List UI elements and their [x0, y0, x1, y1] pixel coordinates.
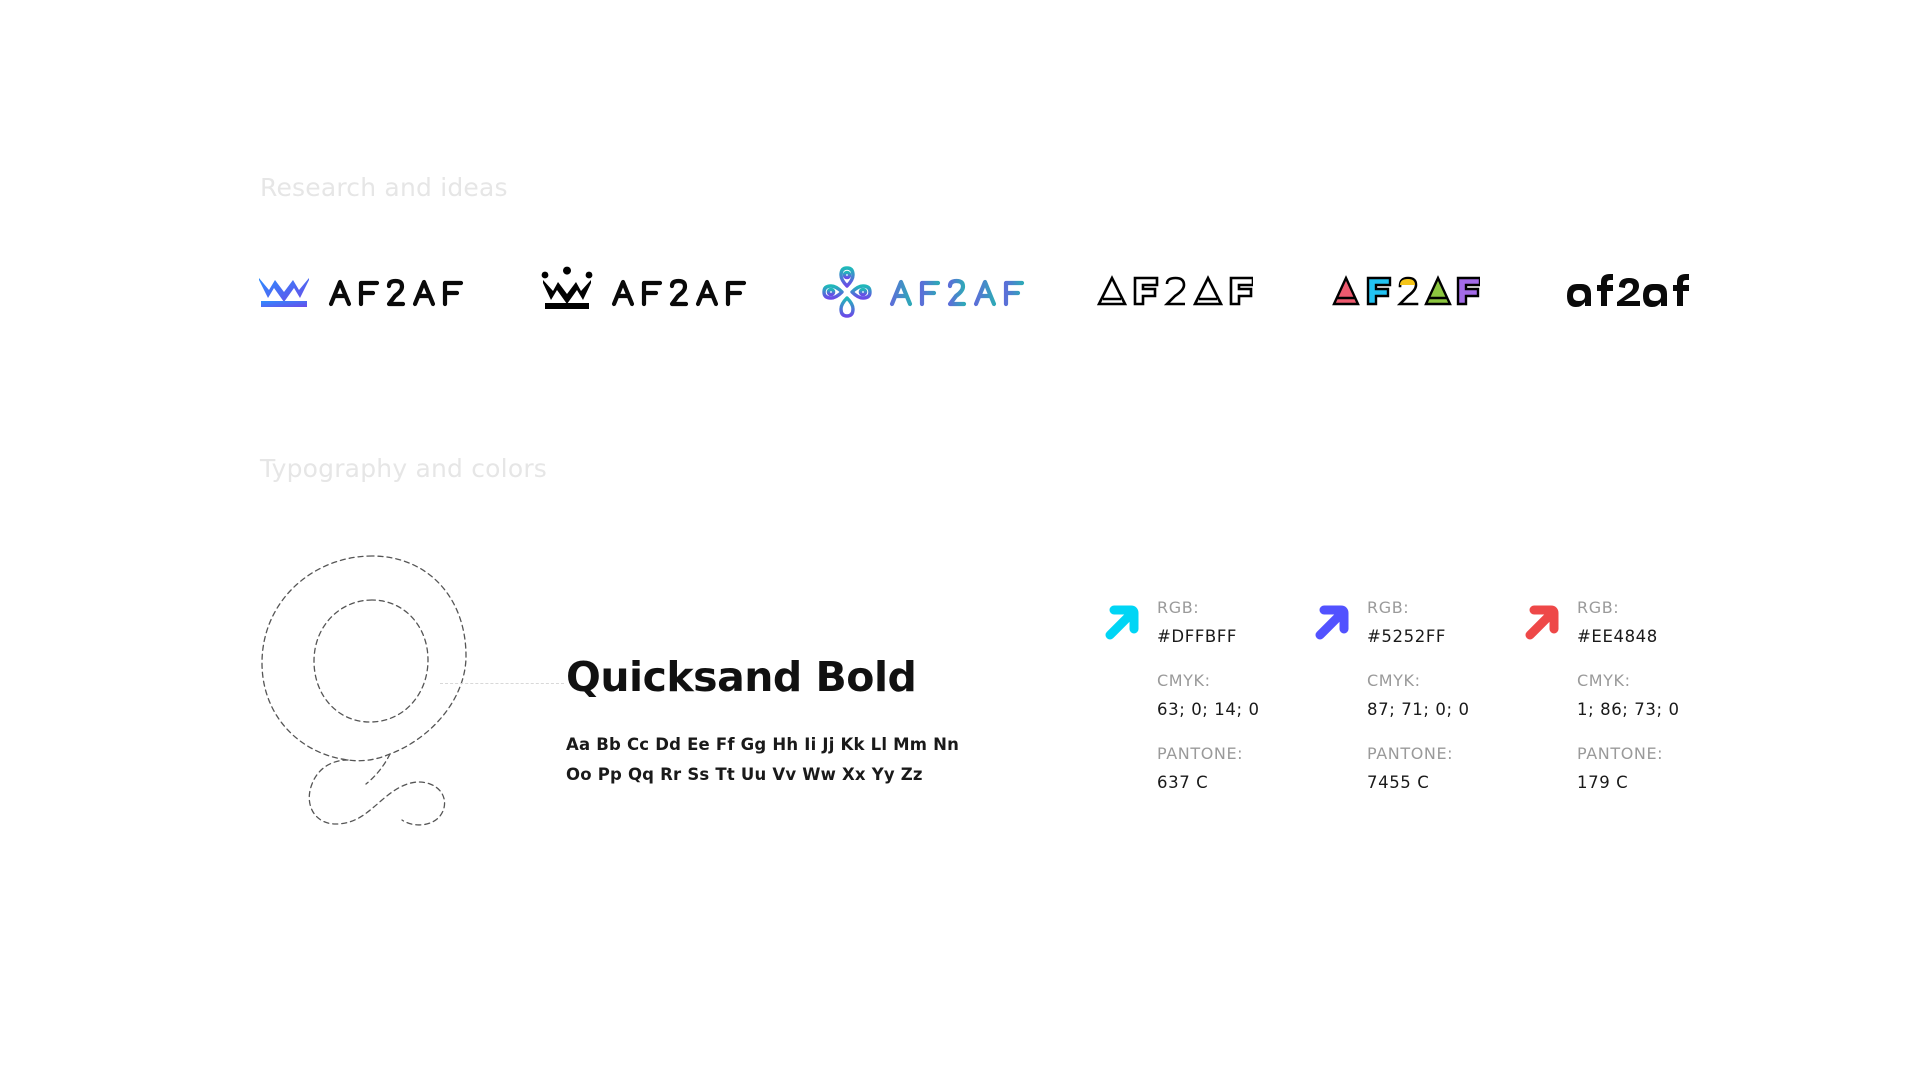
- field-label: RGB:: [1577, 598, 1727, 617]
- field-value: 87; 71; 0; 0: [1367, 700, 1517, 719]
- logo-variation-crown-dots[interactable]: [538, 252, 758, 332]
- field-label: PANTONE:: [1157, 744, 1307, 763]
- field-value: #5252FF: [1367, 627, 1517, 646]
- arrow-up-right-icon: [1520, 601, 1560, 641]
- swatch-field-cmyk: CMYK: 1; 86; 73; 0: [1577, 671, 1727, 719]
- logo-wordmark: [1330, 270, 1480, 314]
- logo-wordmark: [327, 274, 475, 310]
- section-heading-research: Research and ideas: [260, 173, 508, 202]
- swatch-fields: RGB: #5252FF CMYK: 87; 71; 0; 0 PANTONE:…: [1367, 598, 1517, 792]
- color-swatch-group: RGB: #DFFBFF CMYK: 63; 0; 14; 0 PANTONE:…: [1100, 598, 1740, 838]
- logo-wordmark: [1095, 270, 1253, 314]
- swatch-field-pantone: PANTONE: 637 C: [1157, 744, 1307, 792]
- arrow-up-right-icon: [1310, 601, 1350, 641]
- swatch-field-rgb: RGB: #DFFBFF: [1157, 598, 1307, 646]
- letterform-outline-q: [252, 548, 522, 848]
- field-value: 7455 C: [1367, 773, 1517, 792]
- logo-variations-row: [255, 252, 1700, 332]
- field-label: RGB:: [1367, 598, 1517, 617]
- swatch-field-pantone: PANTONE: 7455 C: [1367, 744, 1517, 792]
- crown-icon: [255, 268, 313, 316]
- swatch-field-rgb: RGB: #EE4848: [1577, 598, 1727, 646]
- logo-variation-clover-gradient[interactable]: [820, 252, 1036, 332]
- logo-variation-crown-gradient[interactable]: [255, 252, 475, 332]
- field-value: 179 C: [1577, 773, 1727, 792]
- logo-wordmark: [1565, 270, 1689, 314]
- arrow-up-right-icon: [1100, 601, 1140, 641]
- field-label: CMYK:: [1577, 671, 1727, 690]
- swatch-field-cmyk: CMYK: 63; 0; 14; 0: [1157, 671, 1307, 719]
- swatch-fields: RGB: #EE4848 CMYK: 1; 86; 73; 0 PANTONE:…: [1577, 598, 1727, 792]
- swatch-field-pantone: PANTONE: 179 C: [1577, 744, 1727, 792]
- alphabet-specimen-line-2: Oo Pp Qq Rr Ss Tt Uu Vv Ww Xx Yy Zz: [566, 765, 923, 784]
- logo-variation-geometric-outline[interactable]: [1095, 252, 1253, 332]
- logo-variation-lowercase-wordmark[interactable]: [1565, 252, 1689, 332]
- field-label: PANTONE:: [1367, 744, 1517, 763]
- alphabet-specimen-line-1: Aa Bb Cc Dd Ee Ff Gg Hh Ii Jj Kk Ll Mm N…: [566, 735, 959, 754]
- section-heading-typography: Typography and colors: [260, 454, 547, 483]
- logo-wordmark: [610, 274, 758, 310]
- letterform-connector-line: [440, 683, 564, 684]
- logo-variation-geometric-color[interactable]: [1330, 252, 1480, 332]
- swatch-fields: RGB: #DFFBFF CMYK: 63; 0; 14; 0 PANTONE:…: [1157, 598, 1307, 792]
- swatch-field-cmyk: CMYK: 87; 71; 0; 0: [1367, 671, 1517, 719]
- field-value: 63; 0; 14; 0: [1157, 700, 1307, 719]
- swatch-field-rgb: RGB: #5252FF: [1367, 598, 1517, 646]
- field-value: #EE4848: [1577, 627, 1727, 646]
- clover-pin-icon: [820, 264, 874, 320]
- font-name-label: Quicksand Bold: [566, 653, 916, 701]
- field-value: #DFFBFF: [1157, 627, 1307, 646]
- field-label: RGB:: [1157, 598, 1307, 617]
- brand-style-guide-canvas: Research and ideas: [0, 0, 1920, 1083]
- crown-with-dots-icon: [538, 266, 596, 318]
- logo-wordmark: [888, 274, 1036, 310]
- field-label: CMYK:: [1157, 671, 1307, 690]
- field-label: PANTONE:: [1577, 744, 1727, 763]
- field-label: CMYK:: [1367, 671, 1517, 690]
- field-value: 1; 86; 73; 0: [1577, 700, 1727, 719]
- field-value: 637 C: [1157, 773, 1307, 792]
